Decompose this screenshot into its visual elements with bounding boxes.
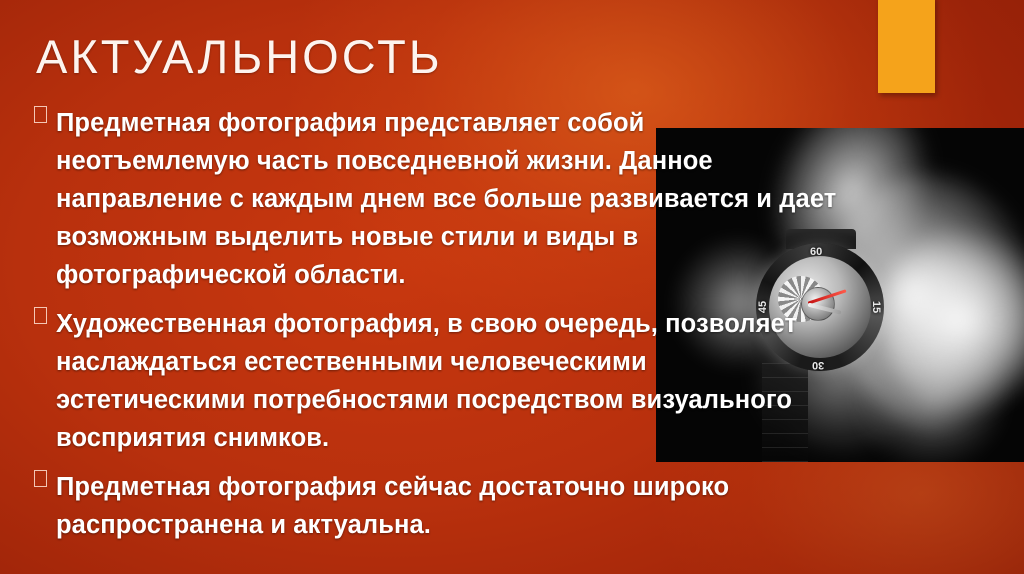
paragraph-text: Предметная фотография сейчас достаточно …: [34, 468, 1010, 544]
text-line: восприятия снимков.: [56, 419, 1010, 457]
bullet-paragraph: Художественная фотография, в свою очеред…: [0, 305, 1010, 457]
text-line: Предметная фотография представляет собой: [56, 104, 1010, 142]
accent-bar-decoration: [878, 0, 935, 93]
bullet-box-icon: [34, 470, 47, 487]
bullet-paragraph: Предметная фотография представляет собой…: [0, 104, 1010, 294]
text-line: распространена и актуальна.: [56, 506, 1010, 544]
text-line: Художественная фотография, в свою очеред…: [56, 305, 1010, 343]
bullet-box-icon: [34, 307, 47, 324]
text-line: возможным выделить новые стили и виды в: [56, 218, 1010, 256]
slide-body: Предметная фотография представляет собой…: [0, 104, 1010, 544]
text-line: Предметная фотография сейчас достаточно …: [56, 468, 1010, 506]
text-line: неотъемлемую часть повседневной жизни. Д…: [56, 142, 1010, 180]
bullet-paragraph: Предметная фотография сейчас достаточно …: [0, 468, 1010, 544]
paragraph-text: Предметная фотография представляет собой…: [34, 104, 1010, 294]
text-line: наслаждаться естественными человеческими: [56, 343, 1010, 381]
presentation-slide: 60 15 30 45 АКТУАЛЬНОСТЬ Предметная фото…: [0, 0, 1024, 574]
paragraph-text: Художественная фотография, в свою очеред…: [34, 305, 1010, 457]
text-line: фотографической области.: [56, 256, 1010, 294]
slide-title: АКТУАЛЬНОСТЬ: [36, 29, 443, 84]
text-line: направление с каждым днем все больше раз…: [56, 180, 1010, 218]
bullet-box-icon: [34, 106, 47, 123]
text-line: эстетическими потребностями посредством …: [56, 381, 1010, 419]
